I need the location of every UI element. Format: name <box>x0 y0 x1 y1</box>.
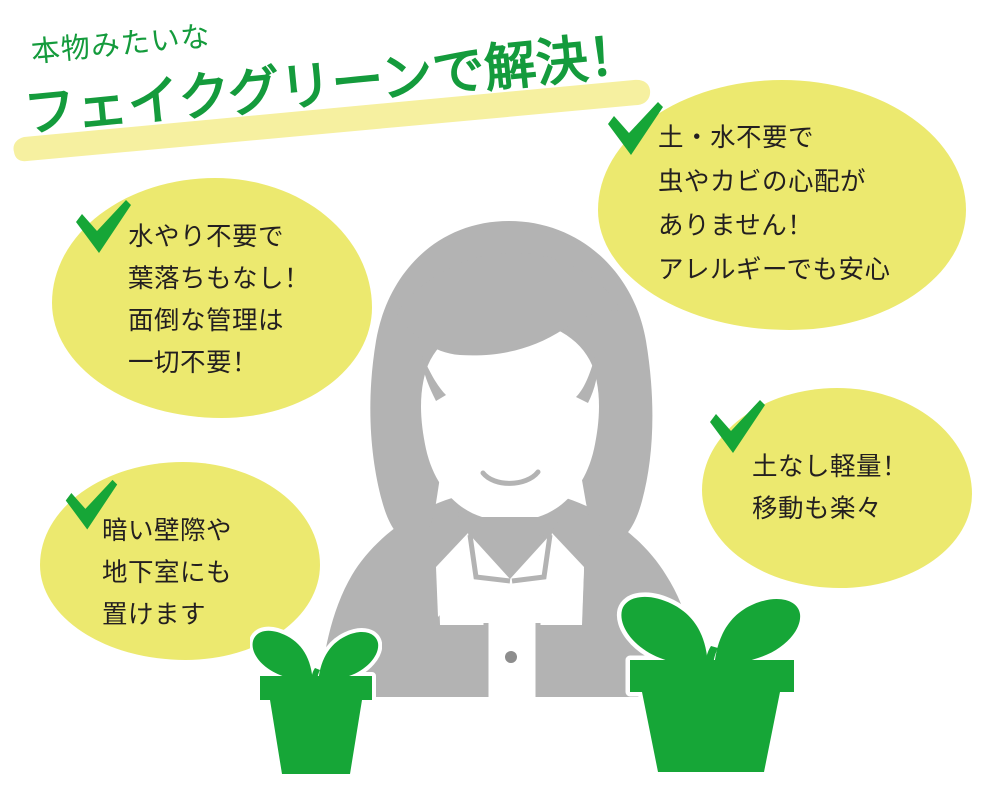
bubble-dark-places-text: 暗い壁際や 地下室にも 置けます <box>102 510 232 636</box>
bubble-line: 地下室にも <box>102 552 232 594</box>
check-icon <box>72 198 134 260</box>
plant-sprout-icon <box>253 631 379 774</box>
bubble-line: 面倒な管理は <box>128 300 310 342</box>
plant-sprout-icon <box>621 597 800 772</box>
check-icon <box>706 398 768 460</box>
bubble-line: 移動も楽々 <box>752 488 908 530</box>
headline-kicker: 本物みたいな <box>30 19 212 69</box>
headline-block: 本物みたいな フェイクグリーンで解決！ <box>0 0 700 185</box>
bubble-line: アレルギーでも安心 <box>658 248 890 292</box>
bubble-line: 置けます <box>102 594 232 636</box>
check-icon <box>62 478 120 536</box>
bubble-water-text: 水やり不要で 葉落ちもなし！ 面倒な管理は 一切不要！ <box>128 216 310 384</box>
bubble-line: 土なし軽量！ <box>752 446 908 488</box>
bubble-line: 葉落ちもなし！ <box>128 258 310 300</box>
bubble-line: ありません！ <box>658 204 890 248</box>
bubble-lightweight-text: 土なし軽量！ 移動も楽々 <box>752 446 908 530</box>
bubble-line: 暗い壁際や <box>102 510 232 552</box>
potted-plant-right <box>612 552 812 782</box>
infographic-canvas: 水やり不要で 葉落ちもなし！ 面倒な管理は 一切不要！ 土・水不要で 虫やカビの… <box>0 0 997 789</box>
potted-plant-left <box>250 598 382 782</box>
shirt-button <box>505 651 517 663</box>
bubble-line: 水やり不要で <box>128 216 310 258</box>
bubble-line: 一切不要！ <box>128 342 310 384</box>
